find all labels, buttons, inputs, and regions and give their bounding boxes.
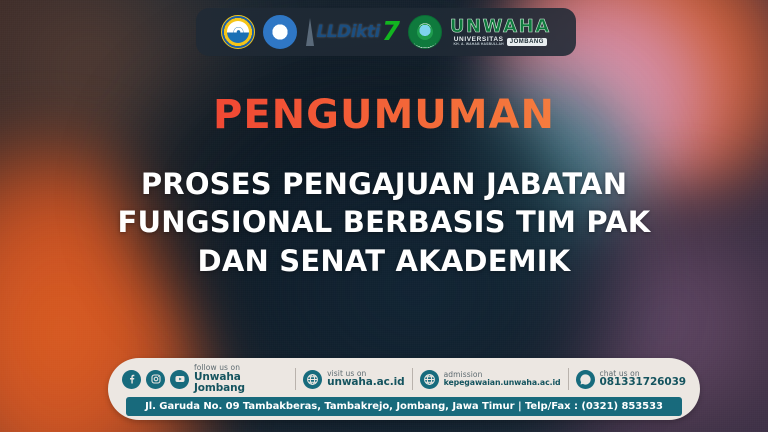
- unwaha-wordmark: UNWAHA UNIVERSITAS KH. A. WAHAB HASBULLA…: [450, 18, 551, 47]
- lldikti-tower-icon: [305, 18, 314, 46]
- subheadline-line-1: PROSES PENGAJUAN JABATAN: [0, 165, 768, 203]
- globe-icon[interactable]: [303, 370, 322, 389]
- follow-handle: Unwaha Jombang: [194, 372, 288, 394]
- lldikti-number: 7: [382, 19, 400, 45]
- poster-headline: PENGUMUMAN: [0, 95, 768, 135]
- address-bar: Jl. Garuda No. 09 Tambakberas, Tambakrej…: [126, 397, 682, 416]
- institution-logo-bar: ⦿ ⚙ LLDikti 7 UNWAHA UNIVERSITAS KH. A. …: [196, 8, 576, 56]
- website-url: unwaha.ac.id: [327, 377, 405, 388]
- contact-divider-3: [568, 368, 569, 390]
- whatsapp-number: 081331726039: [600, 377, 686, 388]
- contact-admission[interactable]: admission kepegawaian.unwaha.ac.id: [420, 370, 561, 389]
- footer-contact-card: follow us on Unwaha Jombang visit us on …: [108, 358, 700, 420]
- lldikti-wordmark: LLDikti 7: [305, 18, 399, 46]
- unwaha-wordmark-big: UNWAHA: [450, 18, 551, 36]
- announcement-poster: ⦿ ⚙ LLDikti 7 UNWAHA UNIVERSITAS KH. A. …: [0, 0, 768, 432]
- tut-wuri-handayani-seal-icon: ⚙: [263, 15, 297, 49]
- unwaha-wordmark-sub-secondary: KH. A. WAHAB HASBULLAH: [454, 43, 504, 46]
- whatsapp-icon[interactable]: [576, 370, 595, 389]
- subheadline-line-3: DAN SENAT AKADEMIK: [0, 242, 768, 280]
- contact-website[interactable]: visit us on unwaha.ac.id: [303, 370, 405, 389]
- contact-divider-2: [412, 368, 413, 390]
- kemendikbud-pendampa-seal-icon: ⦿: [221, 15, 255, 49]
- lldikti-word: LLDikti: [316, 22, 379, 42]
- instagram-icon[interactable]: [146, 370, 165, 389]
- unwaha-seal-icon: [408, 15, 442, 49]
- contact-divider-1: [295, 368, 296, 390]
- contact-social[interactable]: follow us on Unwaha Jombang: [122, 364, 288, 394]
- unwaha-wordmark-badge: JOMBANG: [507, 38, 547, 46]
- subheadline-line-2: FUNGSIONAL BERBASIS TIM PAK: [0, 203, 768, 241]
- youtube-icon[interactable]: [170, 370, 189, 389]
- poster-subheadline: PROSES PENGAJUAN JABATAN FUNGSIONAL BERB…: [0, 165, 768, 280]
- admission-url: kepegawaian.unwaha.ac.id: [444, 379, 561, 387]
- contact-whatsapp[interactable]: chat us on 081331726039: [576, 370, 686, 389]
- facebook-icon[interactable]: [122, 370, 141, 389]
- globe-icon[interactable]: [420, 370, 439, 389]
- contact-row: follow us on Unwaha Jombang visit us on …: [108, 362, 700, 396]
